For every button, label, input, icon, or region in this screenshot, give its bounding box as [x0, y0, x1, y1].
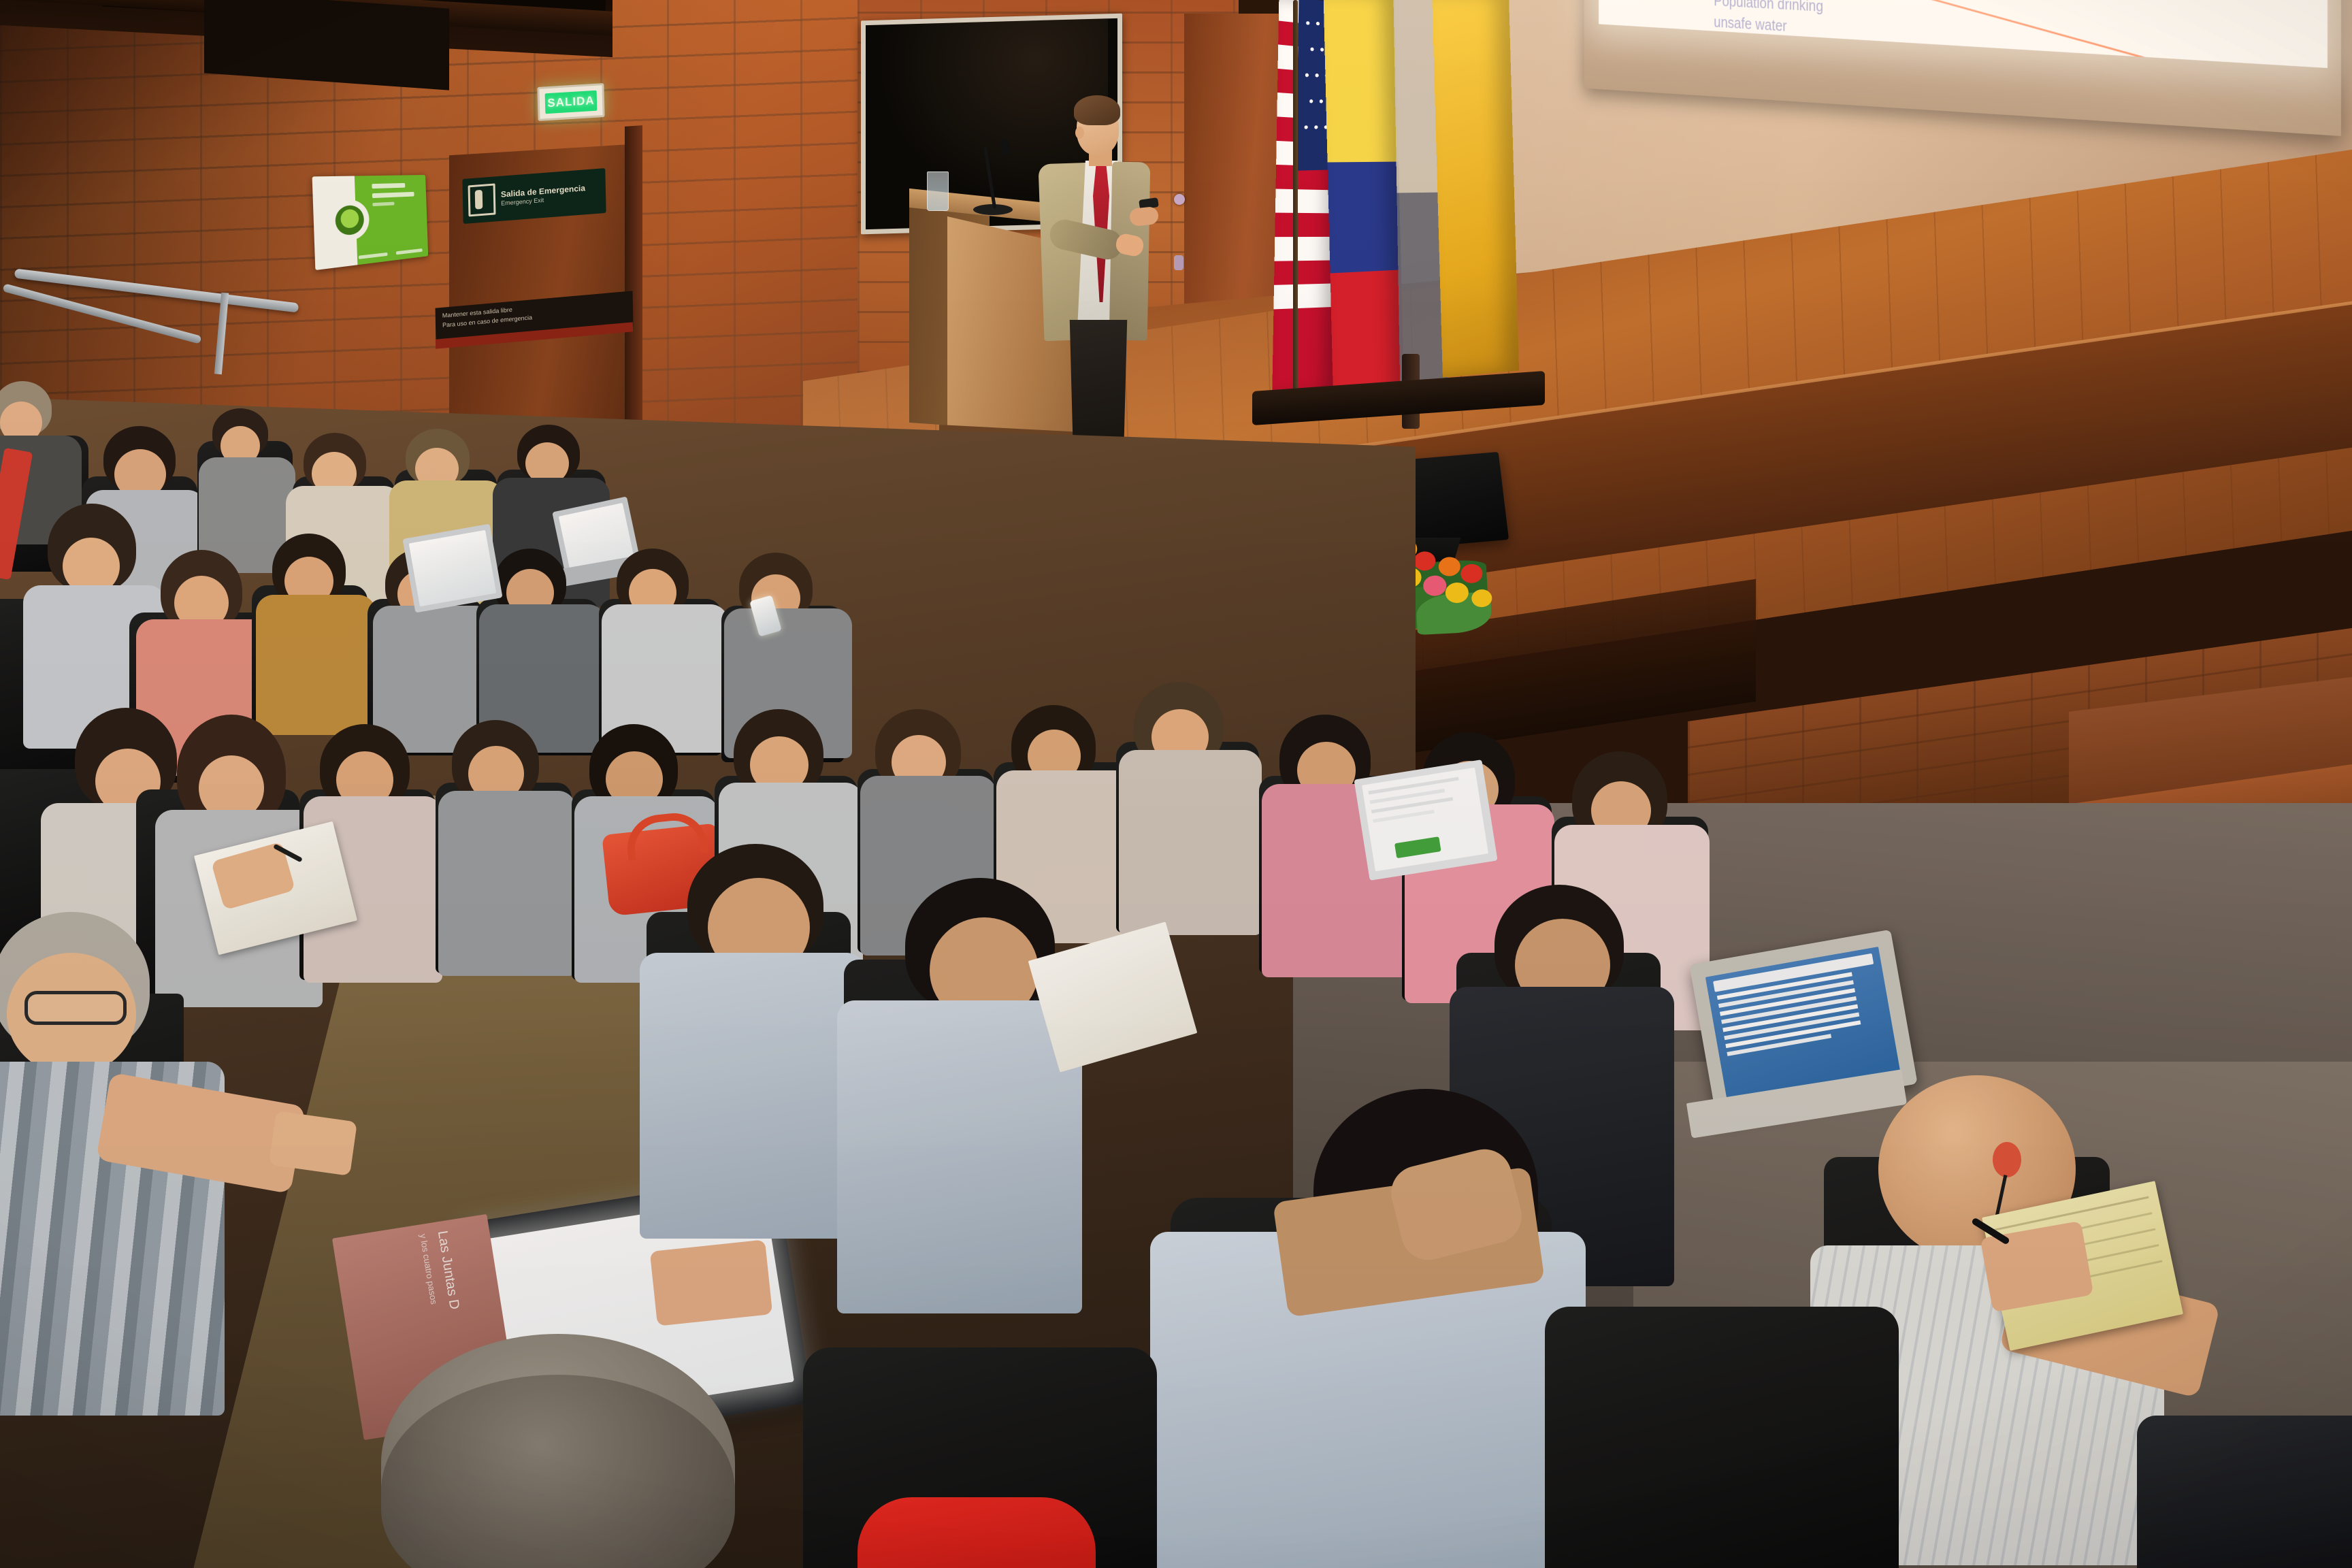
door-knob-icon[interactable] — [1174, 194, 1185, 205]
speaker-hair — [1074, 95, 1120, 125]
colombia-flag — [1323, 0, 1404, 419]
emergency-exit-text: Salida de Emergencia Emergency Exit — [501, 184, 586, 207]
exit-sign-label: SALIDA — [545, 91, 598, 114]
green-wall-poster — [312, 175, 429, 270]
light-blue-shirt — [640, 953, 864, 1239]
running-person-door-icon — [468, 183, 496, 216]
exit-sign: SALIDA — [537, 83, 604, 121]
foreground-dark-shoulder — [2137, 1416, 2352, 1568]
green-action-button[interactable] — [1394, 836, 1441, 858]
red-cap — [857, 1497, 1096, 1568]
hand-on-tablet — [650, 1239, 773, 1326]
speaker-ear — [1075, 127, 1084, 139]
institutional-yellow-flag — [1432, 0, 1519, 378]
flagpole-us — [1293, 0, 1298, 408]
poster-left-panel — [312, 176, 358, 271]
auditorium-scene: SALIDA Salida de Emergencia Emergency Ex… — [0, 0, 2352, 1568]
laptop-screen[interactable] — [409, 530, 497, 606]
brochure-title: Las Juntas D y los cuatro pasos — [370, 1230, 467, 1343]
hand — [269, 1111, 357, 1176]
translation-earpiece-icon — [1993, 1142, 2021, 1177]
door-latch-icon[interactable] — [1174, 255, 1183, 270]
white-laptop-screen[interactable] — [1362, 768, 1488, 872]
water-glass-icon[interactable] — [927, 171, 949, 211]
eyeglasses-icon — [24, 991, 127, 1025]
